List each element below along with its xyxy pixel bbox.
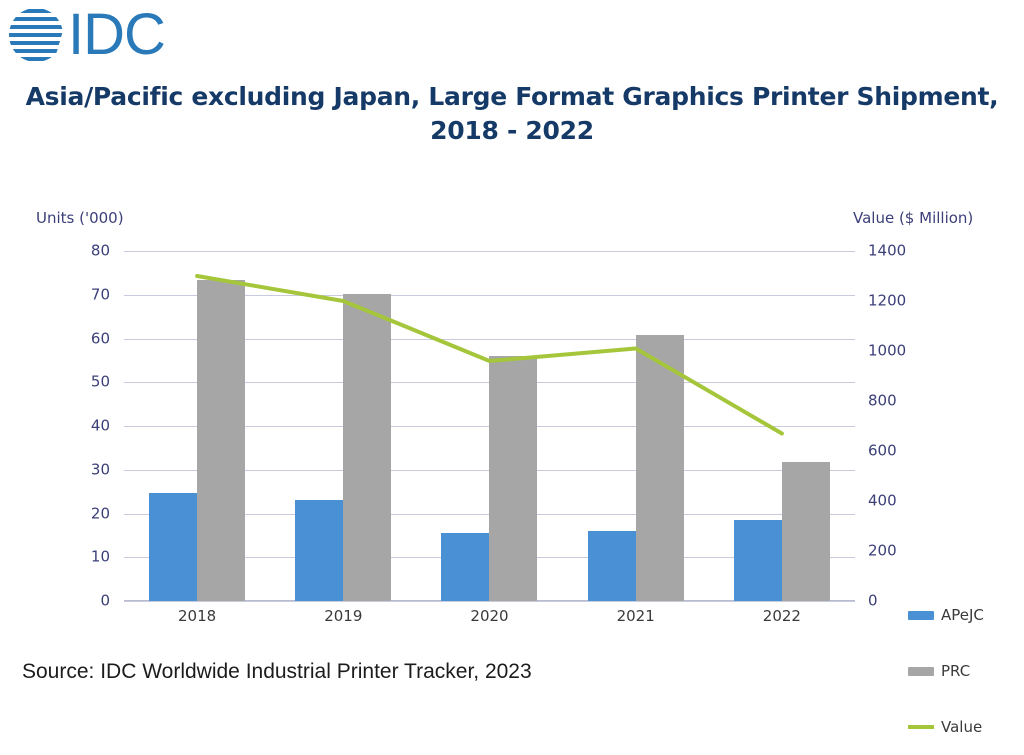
legend-item-apejc[interactable]: APeJC: [908, 587, 1020, 643]
left-axis-ticks: 80706050403020100: [58, 251, 110, 601]
right-axis-ticks: 1400120010008006004002000: [868, 251, 928, 601]
chart-legend: APeJCPRCValue: [908, 587, 1020, 755]
bar-group: [270, 251, 416, 601]
legend-item-value[interactable]: Value: [908, 699, 1020, 755]
chart-title-line2: 2018 - 2022: [0, 114, 1024, 148]
y-axis-tick-label: 30: [91, 462, 110, 477]
idc-logo-text: IDC: [68, 6, 165, 64]
bar-group: [416, 251, 562, 601]
y-axis-tick-label: 10: [91, 550, 110, 565]
bar-prc-2018[interactable]: [197, 280, 245, 601]
x-axis-tick-label: 2021: [617, 607, 655, 625]
y2-axis-tick-label: 400: [868, 494, 897, 509]
legend-label: PRC: [941, 662, 970, 680]
y-axis-tick-label: 60: [91, 331, 110, 346]
bar-group: [709, 251, 855, 601]
source-note: Source: IDC Worldwide Industrial Printer…: [22, 660, 532, 684]
y2-axis-tick-label: 1200: [868, 294, 906, 309]
idc-logo: IDC: [6, 4, 165, 66]
y-axis-tick-label: 70: [91, 287, 110, 302]
plot-area: [124, 251, 855, 601]
bar-prc-2021[interactable]: [636, 335, 684, 601]
y-axis-tick-label: 50: [91, 375, 110, 390]
y-axis-tick-label: 20: [91, 506, 110, 521]
legend-label: Value: [941, 718, 982, 736]
legend-label: APeJC: [941, 606, 984, 624]
y-axis-tick-label: 40: [91, 419, 110, 434]
right-axis-title: Value ($ Million): [853, 209, 973, 227]
bar-apejc-2022[interactable]: [734, 520, 782, 601]
y-axis-tick-label: 80: [91, 244, 110, 259]
y2-axis-tick-label: 1400: [868, 244, 906, 259]
y2-axis-tick-label: 600: [868, 444, 897, 459]
bar-group: [563, 251, 709, 601]
x-axis-tick-label: 2018: [178, 607, 216, 625]
bar-prc-2019[interactable]: [343, 294, 391, 601]
bar-apejc-2021[interactable]: [588, 531, 636, 601]
bar-apejc-2020[interactable]: [441, 533, 489, 601]
y2-axis-tick-label: 1000: [868, 344, 906, 359]
legend-swatch-icon: [908, 667, 934, 676]
x-axis-tick-label: 2019: [324, 607, 362, 625]
chart-title-line1: Asia/Pacific excluding Japan, Large Form…: [0, 80, 1024, 114]
chart-title: Asia/Pacific excluding Japan, Large Form…: [0, 80, 1024, 148]
legend-item-prc[interactable]: PRC: [908, 643, 1020, 699]
x-axis-tick-label: 2022: [763, 607, 801, 625]
y2-axis-tick-label: 800: [868, 394, 897, 409]
bar-prc-2022[interactable]: [782, 462, 830, 601]
bar-apejc-2019[interactable]: [295, 500, 343, 601]
idc-globe-icon: [6, 6, 66, 64]
bar-prc-2020[interactable]: [489, 356, 537, 601]
left-axis-title: Units ('000): [36, 209, 124, 227]
y-axis-tick-label: 0: [100, 594, 110, 609]
legend-swatch-icon: [908, 725, 934, 729]
bar-group: [124, 251, 270, 601]
y2-axis-tick-label: 200: [868, 544, 897, 559]
y2-axis-tick-label: 0: [868, 594, 878, 609]
gridline: [124, 601, 855, 602]
legend-swatch-icon: [908, 611, 934, 620]
x-axis-tick-label: 2020: [470, 607, 508, 625]
x-axis-labels: 20182019202020212022: [124, 607, 855, 637]
chart-container: Units ('000) Value ($ Million) 807060504…: [0, 195, 1024, 645]
bar-apejc-2018[interactable]: [149, 493, 197, 602]
